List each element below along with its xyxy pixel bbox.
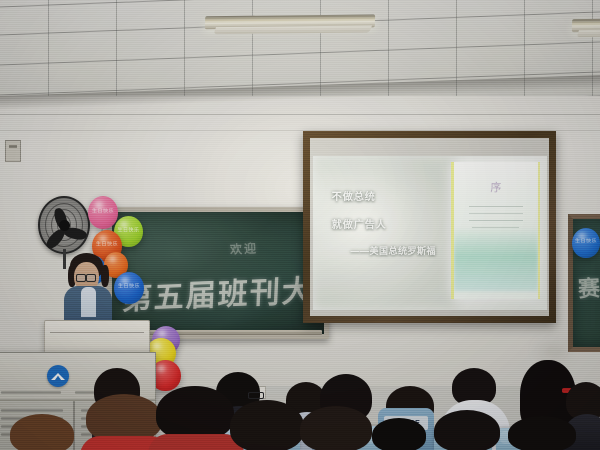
- slide-line-3: ——美国总统罗斯福: [350, 244, 436, 257]
- audience-person-front-1: [10, 414, 74, 450]
- blackboard-right-text: 赛: [577, 270, 600, 303]
- balloon-blue-lower: 生日快乐: [114, 272, 144, 304]
- mountain-emblem-icon: [47, 365, 69, 387]
- wall-fan: [38, 196, 90, 254]
- audience-person-front-3: [156, 386, 234, 450]
- presenter: [64, 253, 112, 323]
- projection-screen: 不做总统 就做广告人 ——美国总统罗斯福 序: [310, 138, 549, 316]
- slide-line-1: 不做总统: [332, 188, 376, 203]
- cover-title: 序: [454, 179, 538, 195]
- fluorescent-light-right: [572, 18, 600, 32]
- projection-screen-frame: 不做总统 就做广告人 ——美国总统罗斯福 序: [303, 131, 556, 323]
- audience-glasses: [248, 392, 264, 399]
- slide-line-2: 就做广告人: [332, 216, 387, 231]
- classroom-photo: 欢迎 第五届班刊大 赛 不做总统 就做广告人 ——美国总统罗斯福 序: [0, 0, 600, 450]
- projected-slide: 不做总统 就做广告人 ——美国总统罗斯福 序: [313, 156, 547, 310]
- blackboard-main-text: 第五届班刊大: [121, 266, 315, 319]
- wall-switch-box: [5, 140, 21, 162]
- slide-cover-image: 序: [451, 162, 540, 299]
- fluorescent-light-center: [205, 14, 375, 29]
- presenter-glasses: [76, 274, 86, 282]
- blackboard-faint-text: 欢迎: [230, 239, 259, 257]
- presenter-shirt: [81, 287, 96, 317]
- audience-person-front-5: [300, 406, 372, 450]
- audience-person-front-8: [508, 416, 576, 450]
- balloon-pink: 生日快乐: [88, 196, 118, 229]
- slide-background-blur: [313, 156, 458, 310]
- audience-person-front-7: [434, 410, 500, 450]
- audience-person-front-4: [230, 400, 304, 450]
- presenter-glasses: [86, 274, 96, 282]
- audience-person-front-6: [372, 418, 426, 450]
- balloon-blue-right: 生日快乐: [572, 228, 600, 258]
